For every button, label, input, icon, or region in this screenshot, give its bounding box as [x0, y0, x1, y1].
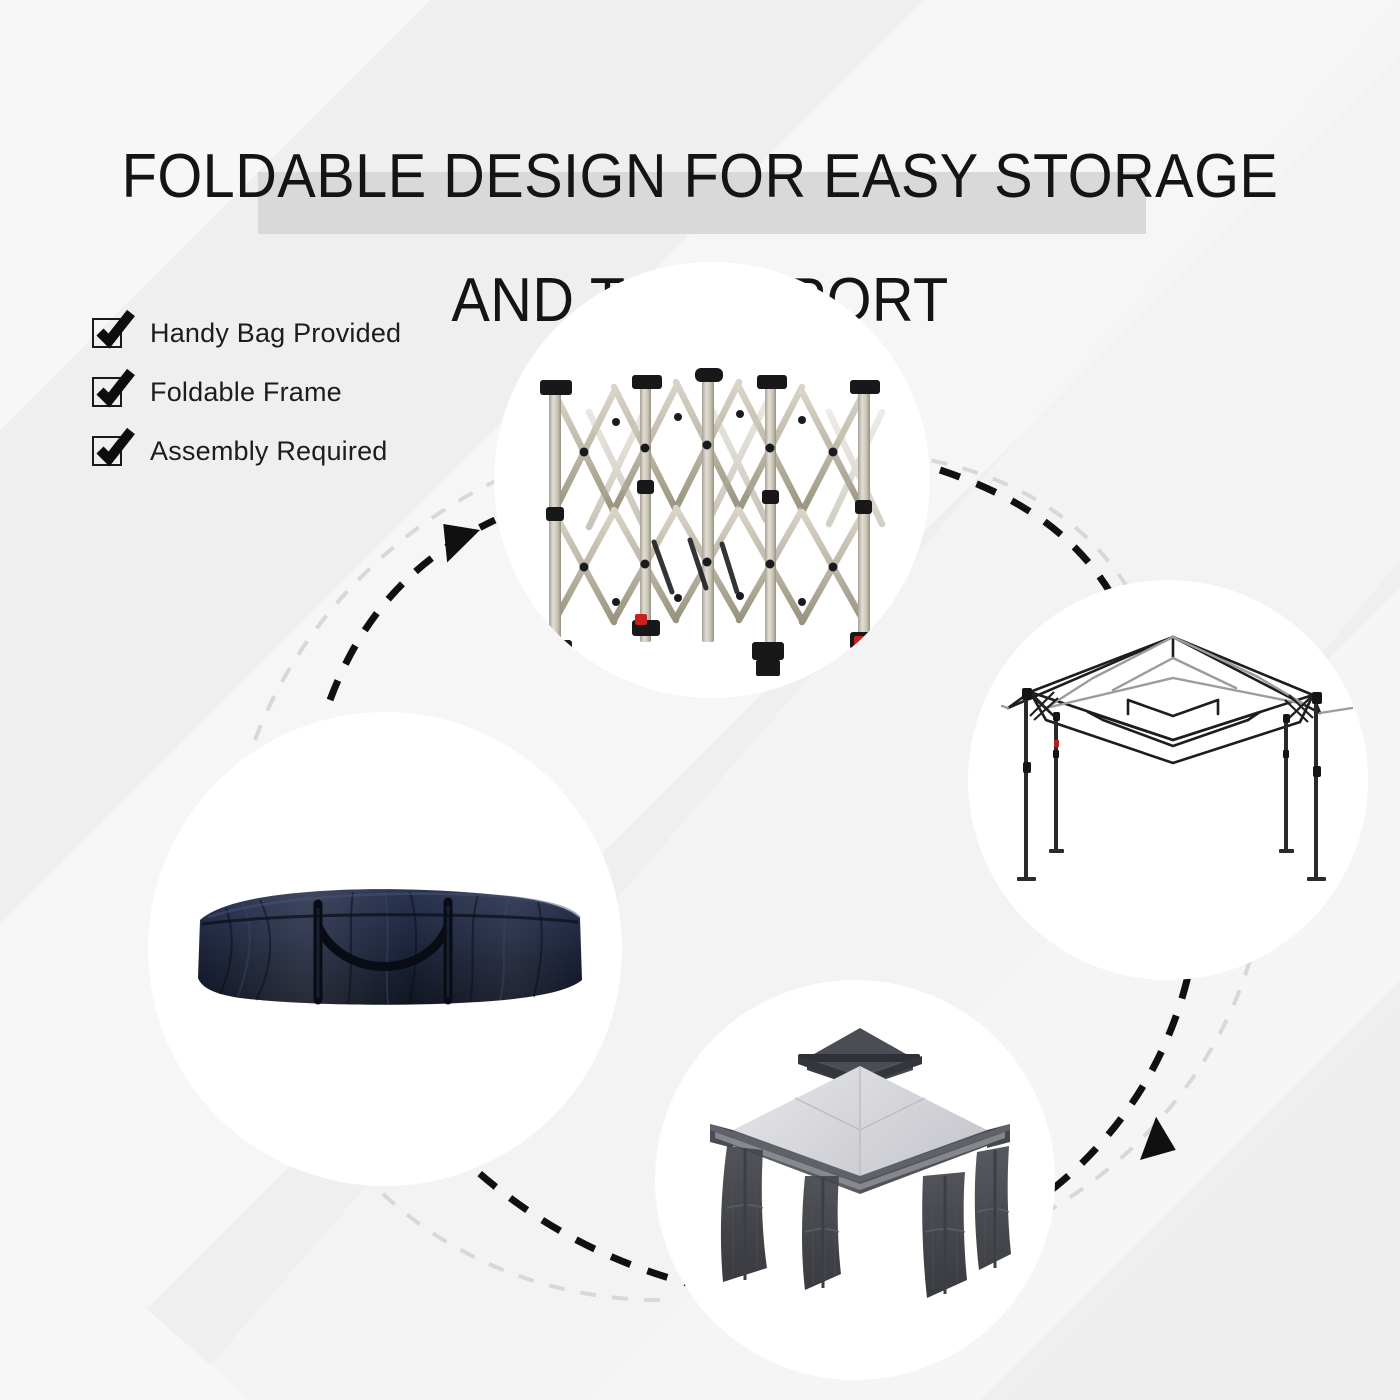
feature-label-0: Handy Bag Provided	[150, 318, 401, 349]
checkbox-checked-icon	[92, 434, 128, 468]
carry-bag-photo	[148, 712, 622, 1186]
finished-gazebo-photo	[655, 980, 1055, 1380]
erected-frame-photo	[968, 580, 1368, 980]
list-item: Assembly Required	[92, 422, 401, 480]
page-title-line-1: FOLDABLE DESIGN FOR EASY STORAGE	[122, 142, 1279, 211]
checkbox-checked-icon	[92, 316, 128, 350]
infographic-canvas: FOLDABLE DESIGN FOR EASY STORAGE AND TRA…	[0, 0, 1400, 1400]
feature-label-2: Assembly Required	[150, 436, 388, 467]
list-item: Handy Bag Provided	[92, 304, 401, 362]
release-button	[1054, 740, 1059, 747]
checkbox-checked-icon	[92, 375, 128, 409]
folded-frame-circle	[494, 262, 930, 698]
folded-gazebo-frame-photo	[494, 262, 930, 698]
carry-bag-circle	[148, 712, 622, 1186]
erected-frame-circle	[968, 580, 1368, 980]
list-item: Foldable Frame	[92, 363, 401, 421]
feature-label-1: Foldable Frame	[150, 377, 342, 408]
finished-gazebo-circle	[655, 980, 1055, 1380]
feature-checklist: Handy Bag Provided Foldable Frame Assemb…	[92, 304, 401, 481]
